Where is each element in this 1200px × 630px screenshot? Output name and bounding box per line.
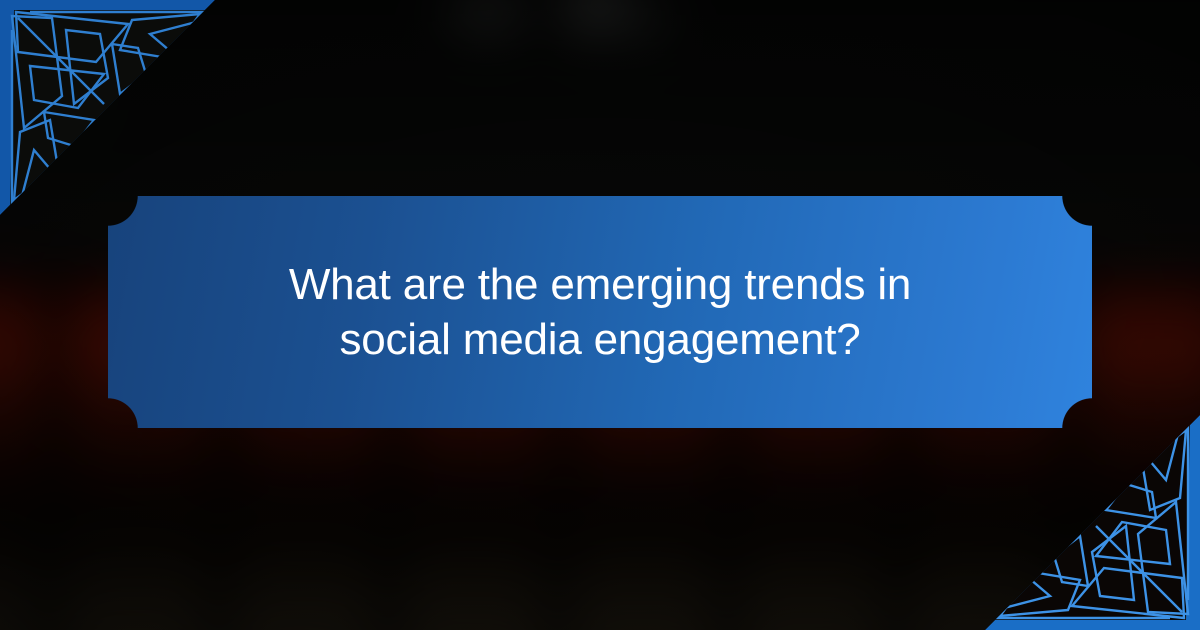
quote-card-title: What are the emerging trends in social m… [230,257,970,368]
quote-card-canvas: What are the emerging trends in social m… [0,0,1200,630]
quote-card: What are the emerging trends in social m… [108,196,1092,428]
